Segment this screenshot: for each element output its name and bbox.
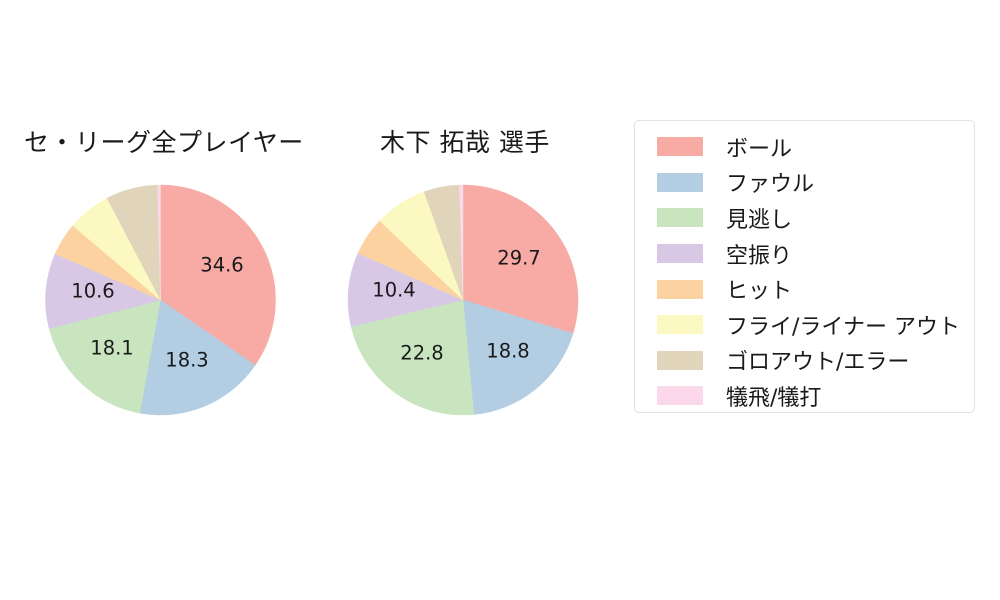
legend-panel: ボールファウル見逃し空振りヒットフライ/ライナー アウトゴロアウト/エラー犠飛/… xyxy=(634,120,975,413)
legend-item-4[interactable]: ヒット xyxy=(635,271,974,307)
legend-item-label-1: ファウル xyxy=(726,166,814,198)
legend-item-1[interactable]: ファウル xyxy=(635,165,974,201)
legend-list: ボールファウル見逃し空振りヒットフライ/ライナー アウトゴロアウト/エラー犠飛/… xyxy=(635,129,974,414)
legend-swatch-icon-5 xyxy=(657,315,703,334)
legend-item-3[interactable]: 空振り xyxy=(635,236,974,272)
legend-swatch-icon-1 xyxy=(657,173,703,192)
legend-item-6[interactable]: ゴロアウト/エラー xyxy=(635,343,974,379)
legend-item-7[interactable]: 犠飛/犠打 xyxy=(635,378,974,414)
right-pie-slice-label-0: 29.7 xyxy=(497,247,540,270)
legend-item-0[interactable]: ボール xyxy=(635,129,974,165)
chart-canvas: セ・リーグ全プレイヤー 木下 拓哉 選手 34.618.318.110.6 29… xyxy=(0,0,1000,600)
legend-swatch-icon-3 xyxy=(657,244,703,263)
legend-swatch-icon-0 xyxy=(657,137,703,156)
right-pie-slice-label-1: 18.8 xyxy=(486,340,529,363)
legend-item-label-3: 空振り xyxy=(726,238,792,270)
legend-swatch-icon-7 xyxy=(657,386,703,405)
right-pie-slice-label-3: 10.4 xyxy=(372,279,415,302)
legend-item-label-6: ゴロアウト/エラー xyxy=(726,344,909,376)
legend-item-label-0: ボール xyxy=(726,131,792,163)
legend-swatch-icon-4 xyxy=(657,280,703,299)
legend-item-5[interactable]: フライ/ライナー アウト xyxy=(635,307,974,343)
legend-item-label-5: フライ/ライナー アウト xyxy=(726,309,960,341)
legend-swatch-icon-6 xyxy=(657,351,703,370)
legend-item-label-7: 犠飛/犠打 xyxy=(726,380,821,412)
legend-swatch-icon-2 xyxy=(657,208,703,227)
legend-item-2[interactable]: 見逃し xyxy=(635,200,974,236)
legend-item-label-2: 見逃し xyxy=(726,202,792,234)
right-pie-slice-label-2: 22.8 xyxy=(400,342,443,365)
legend-item-label-4: ヒット xyxy=(726,273,792,305)
